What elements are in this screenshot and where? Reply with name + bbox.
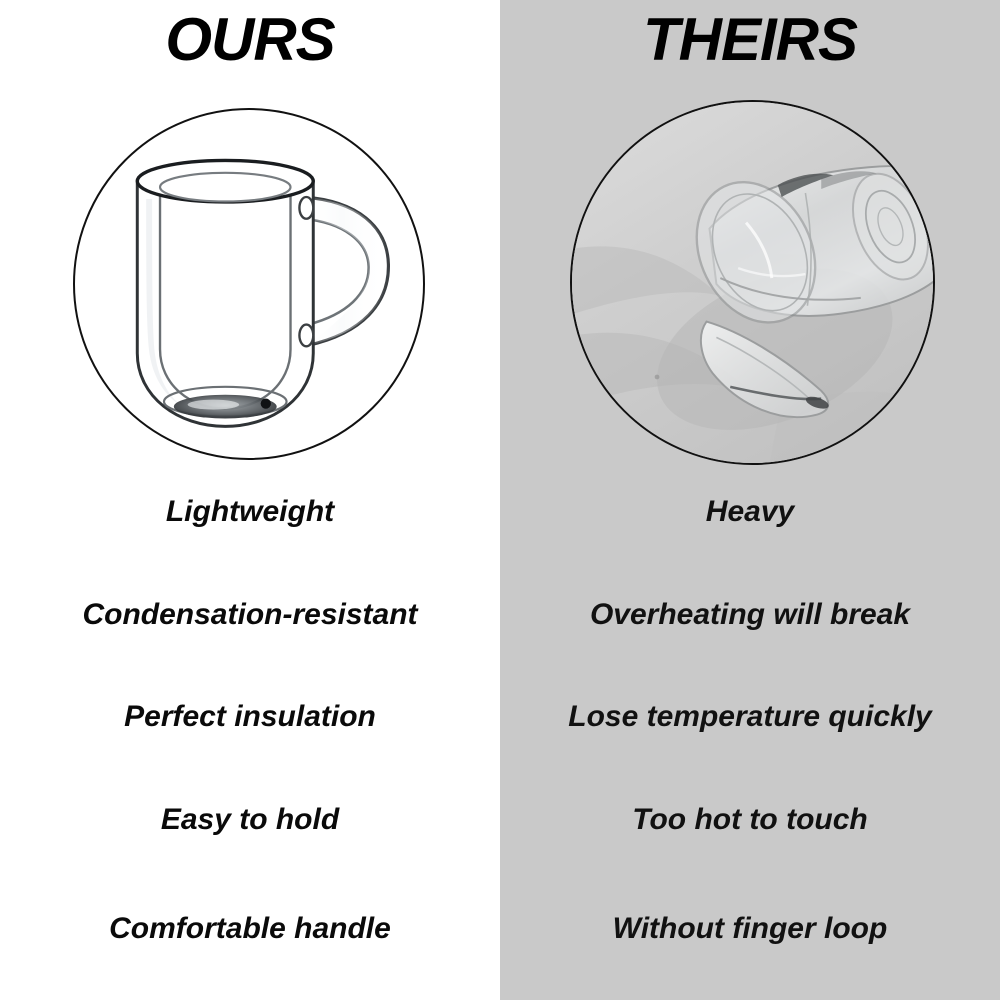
column-ours: OURS (0, 0, 500, 1000)
product-image-ours (73, 108, 425, 460)
feature-ours-0: Lightweight (0, 495, 500, 528)
column-heading-theirs: THEIRS (500, 8, 1000, 71)
feature-ours-1: Condensation-resistant (0, 598, 500, 631)
column-heading-ours: OURS (0, 8, 500, 71)
feature-theirs-0: Heavy (500, 495, 1000, 528)
feature-theirs-2: Lose temperature quickly (500, 700, 1000, 733)
feature-ours-4: Comfortable handle (0, 912, 500, 945)
product-image-theirs (570, 100, 935, 465)
feature-ours-2: Perfect insulation (0, 700, 500, 733)
broken-glass-tumbler-photo (572, 102, 933, 463)
feature-theirs-4: Without finger loop (500, 912, 1000, 945)
comparison-infographic: OURS (0, 0, 1000, 1000)
feature-theirs-3: Too hot to touch (500, 803, 1000, 836)
double-wall-glass-mug-illustration (75, 110, 423, 458)
feature-ours-3: Easy to hold (0, 803, 500, 836)
column-theirs: THEIRS (500, 0, 1000, 1000)
feature-theirs-1: Overheating will break (500, 598, 1000, 631)
